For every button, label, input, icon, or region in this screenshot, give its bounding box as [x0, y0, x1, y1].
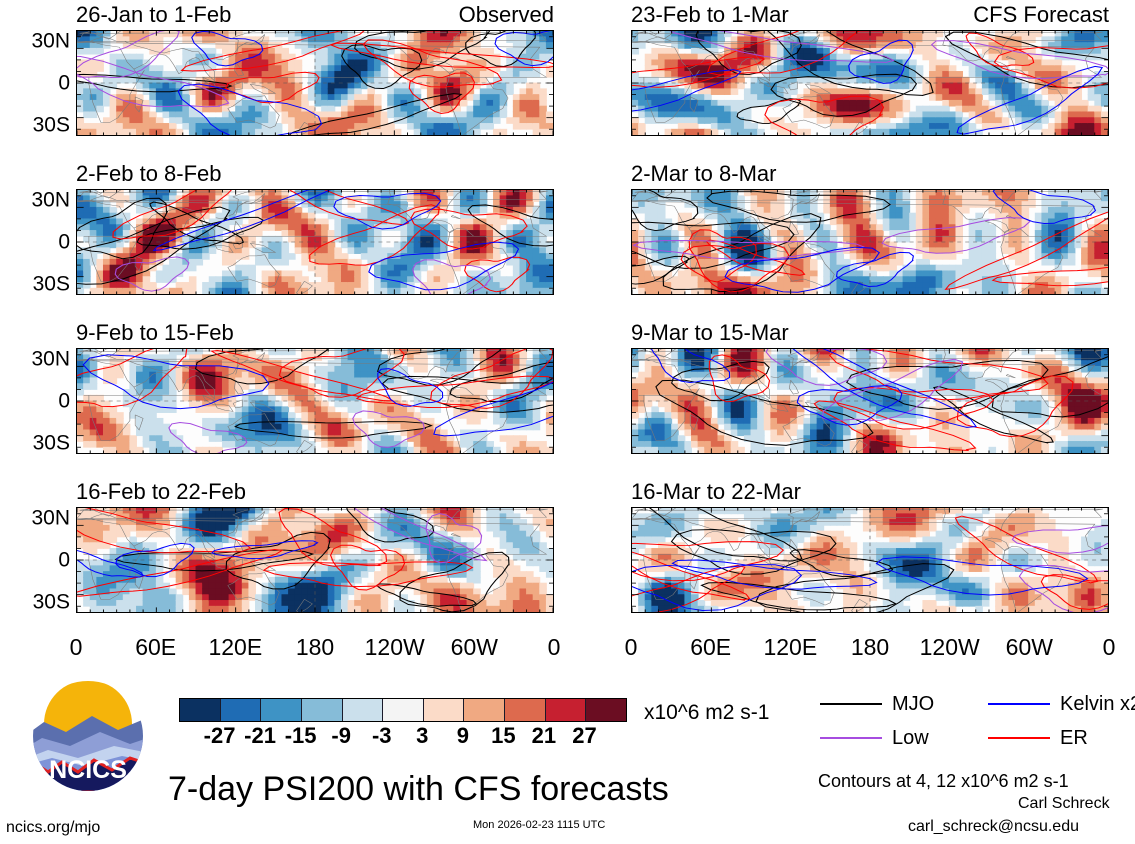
- map-panel-6: 9-Mar to 15-Mar: [631, 348, 1109, 454]
- contour-note-label: Contours at 4, 12 x10^6 m2 s-1: [818, 772, 1069, 790]
- colorbar-tick-label: -21: [244, 725, 276, 747]
- colorbar-tick-label: -27: [204, 725, 236, 747]
- y-tick-label: 30S: [33, 592, 70, 613]
- colorbar-swatch: [505, 699, 546, 721]
- colorbar-swatch: [464, 699, 505, 721]
- map-canvas: [77, 508, 553, 612]
- x-tick-label: 0: [1103, 636, 1116, 659]
- map-canvas: [77, 190, 553, 294]
- colorbar-swatch: [302, 699, 343, 721]
- map-canvas: [632, 508, 1108, 612]
- y-tick-label: 0: [58, 73, 70, 94]
- colorbar-swatch: [424, 699, 465, 721]
- x-tick-label: 180: [851, 636, 889, 659]
- x-tick-label: 120W: [920, 636, 980, 659]
- map-panel-4: 2-Mar to 8-Mar: [631, 189, 1109, 295]
- x-tick-label: 0: [70, 636, 83, 659]
- map-panel-5: 9-Feb to 15-Feb30N030S: [76, 348, 554, 454]
- x-tick-label: 120E: [208, 636, 262, 659]
- panel-title: 9-Feb to 15-Feb: [76, 322, 234, 344]
- legend-label: Kelvin x2: [1060, 694, 1135, 714]
- y-tick-label: 30S: [33, 433, 70, 454]
- colorbar-tick-label: 21: [532, 725, 556, 747]
- legend-label: Low: [892, 728, 929, 748]
- author-label: Carl Schreck: [1018, 796, 1110, 812]
- x-tick-label: 120W: [365, 636, 425, 659]
- colorbar-swatch: [221, 699, 262, 721]
- legend-item-mjo: MJO: [820, 694, 934, 714]
- ncics-logo-text: NCICS: [49, 756, 127, 784]
- contour-legend: MJOKelvin x2LowER: [820, 694, 1135, 754]
- y-tick-label: 30S: [33, 115, 70, 136]
- panel-title: 16-Feb to 22-Feb: [76, 481, 246, 503]
- colorbar-tick-label: -15: [285, 725, 317, 747]
- colorbar-tick-labels: -27-21-15-9-339152127: [179, 725, 625, 749]
- colorbar-tick-label: 9: [457, 725, 469, 747]
- map-frame: [76, 189, 554, 295]
- map-canvas: [77, 31, 553, 135]
- map-frame: [631, 189, 1109, 295]
- map-panel-1: 26-Jan to 1-FebObserved30N030S: [76, 30, 554, 136]
- legend-label: MJO: [892, 694, 934, 714]
- page-title: 7-day PSI200 with CFS forecasts: [168, 772, 669, 806]
- legend-item-er: ER: [988, 728, 1088, 748]
- y-tick-label: 0: [58, 550, 70, 571]
- y-tick-label: 30N: [31, 348, 70, 369]
- map-panel-8: 16-Mar to 22-Mar: [631, 507, 1109, 613]
- map-panel-3: 2-Feb to 8-Feb30N030S: [76, 189, 554, 295]
- site-url-label: ncics.org/mjo: [6, 820, 100, 836]
- colorbar-swatch: [383, 699, 424, 721]
- map-panel-7: 16-Feb to 22-Feb30N030S: [76, 507, 554, 613]
- map-panel-2: 23-Feb to 1-MarCFS Forecast: [631, 30, 1109, 136]
- colorbar-swatch: [261, 699, 302, 721]
- y-tick-label: 0: [58, 232, 70, 253]
- colorbar-swatch: [546, 699, 587, 721]
- x-tick-label: 60E: [690, 636, 731, 659]
- x-tick-label: 60W: [1006, 636, 1053, 659]
- colorbar-units-label: x10^6 m2 s-1: [644, 702, 769, 723]
- email-label: carl_schreck@ncsu.edu: [908, 819, 1079, 835]
- y-tick-label: 30N: [31, 507, 70, 528]
- map-canvas: [632, 349, 1108, 453]
- x-axis-right: 060E120E180120W60W0: [631, 636, 1109, 662]
- colorbar-tick-label: 15: [491, 725, 515, 747]
- panel-title: 2-Feb to 8-Feb: [76, 163, 222, 185]
- map-frame: [76, 348, 554, 454]
- colorbar-tick-label: 27: [572, 725, 596, 747]
- x-tick-label: 60E: [135, 636, 176, 659]
- x-axis-left: 060E120E180120W60W0: [76, 636, 554, 662]
- colorbar-tick-label: -3: [372, 725, 392, 747]
- map-frame: [631, 507, 1109, 613]
- legend-item-kelvin-x2: Kelvin x2: [988, 694, 1135, 714]
- colorbar-tick-label: -9: [331, 725, 351, 747]
- panel-title: 26-Jan to 1-Feb: [76, 4, 231, 26]
- map-canvas: [632, 190, 1108, 294]
- ncics-logo: NCICS: [22, 680, 154, 797]
- panel-title: 16-Mar to 22-Mar: [631, 481, 801, 503]
- legend-item-low: Low: [820, 728, 929, 748]
- colorbar-swatch: [180, 699, 221, 721]
- x-tick-label: 0: [625, 636, 638, 659]
- column-header: CFS Forecast: [973, 4, 1109, 26]
- map-frame: [631, 30, 1109, 136]
- x-tick-label: 60W: [451, 636, 498, 659]
- colorbar-swatch: [586, 699, 626, 721]
- x-tick-label: 120E: [763, 636, 817, 659]
- map-frame: [76, 507, 554, 613]
- y-tick-label: 30N: [31, 189, 70, 210]
- map-frame: [631, 348, 1109, 454]
- colorbar: [179, 698, 627, 722]
- legend-label: ER: [1060, 728, 1088, 748]
- panel-title: 23-Feb to 1-Mar: [631, 4, 789, 26]
- ncics-logo-graphic: NCICS: [22, 680, 154, 792]
- y-tick-label: 0: [58, 391, 70, 412]
- panel-title: 2-Mar to 8-Mar: [631, 163, 776, 185]
- y-tick-label: 30S: [33, 274, 70, 295]
- x-tick-label: 0: [548, 636, 561, 659]
- map-frame: [76, 30, 554, 136]
- map-canvas: [77, 349, 553, 453]
- legend-line-swatch: [820, 703, 882, 705]
- timestamp-label: Mon 2026-02-23 1115 UTC: [473, 820, 605, 831]
- colorbar-swatch: [343, 699, 384, 721]
- colorbar-tick-label: 3: [416, 725, 428, 747]
- legend-line-swatch: [988, 703, 1050, 705]
- map-canvas: [632, 31, 1108, 135]
- legend-line-swatch: [988, 737, 1050, 739]
- x-tick-label: 180: [296, 636, 334, 659]
- panel-title: 9-Mar to 15-Mar: [631, 322, 789, 344]
- column-header: Observed: [459, 4, 554, 26]
- y-tick-label: 30N: [31, 30, 70, 51]
- legend-line-swatch: [820, 737, 882, 739]
